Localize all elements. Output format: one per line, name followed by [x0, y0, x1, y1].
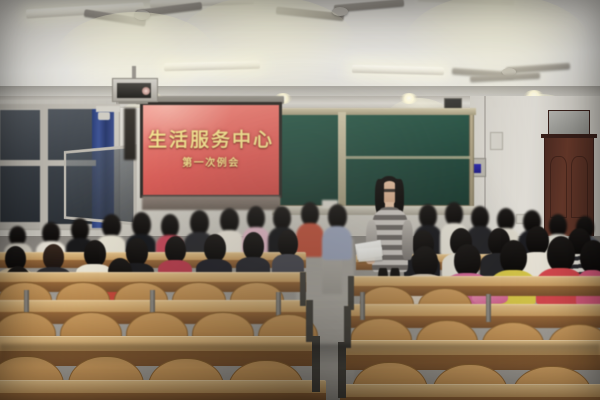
- desk-shadow: [0, 344, 600, 366]
- wall-notice-plate: [490, 132, 503, 150]
- desk-frame: [348, 276, 354, 310]
- slide-subtitle: 第一次例会: [182, 159, 240, 169]
- student: [576, 240, 600, 306]
- student: [322, 204, 352, 260]
- light-glow: [176, 0, 356, 92]
- student: [272, 230, 304, 278]
- security-camera-icon: [98, 112, 110, 120]
- desk-leg: [486, 294, 491, 322]
- lecture-hall-photo: 生活服务中心 第一次例会: [0, 0, 600, 400]
- desk-row-nearest: [0, 380, 326, 400]
- projector-cable: [124, 108, 136, 160]
- projection-screen: 生活服务中心 第一次例会: [140, 102, 282, 198]
- desk-row-nearest: [340, 384, 600, 400]
- ceiling-projector: [112, 78, 158, 110]
- slide-title: 生活服务中心: [148, 131, 274, 150]
- desk-leg: [360, 292, 365, 320]
- light-glow: [404, 0, 590, 94]
